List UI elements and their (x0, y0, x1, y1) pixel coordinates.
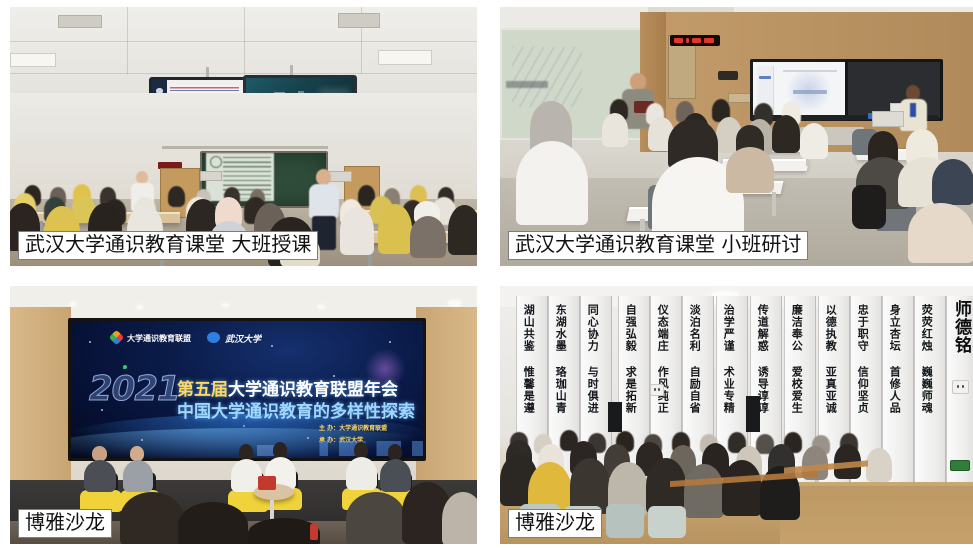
chair (606, 504, 644, 538)
student (340, 207, 374, 255)
wall-socket (650, 384, 664, 396)
audience-member (178, 502, 248, 544)
wall-couplet: 仪态端庄 作风纯正 (657, 304, 668, 428)
wall-title: 师德铭 (952, 300, 969, 370)
led-banner: 大学通识教育联盟 武汉大学 2021 第五届大学通识教育联盟年会 中国大学通识教… (68, 318, 426, 461)
wall-couplet: 东湖水墨 珞珈山青 (555, 304, 566, 428)
banner-host-value: 大学通识教育联盟 (339, 425, 387, 432)
ceiling-light (222, 303, 229, 307)
ceiling-tile (127, 41, 245, 74)
panelist-body (380, 459, 411, 492)
floor-reflection (780, 486, 973, 544)
panelist-body (346, 457, 377, 490)
ceiling-light (318, 305, 325, 309)
audience-member (346, 492, 406, 544)
table-leg (772, 192, 776, 216)
panelist-head (92, 446, 107, 461)
photo-caption: 武汉大学通识教育课堂 大班授课 (18, 231, 318, 260)
wall-plate (728, 93, 752, 103)
ceiling-vent (338, 13, 380, 28)
panelist-head (354, 442, 368, 458)
panelist-head (130, 446, 144, 461)
panelist-body (84, 460, 116, 492)
photo-collage: 武汉大学通识教育课堂 大班授课 (0, 0, 973, 548)
presenter-head (906, 85, 920, 100)
ceiling (10, 286, 477, 322)
student (378, 204, 412, 254)
ceiling-light (378, 50, 432, 65)
banner-host-label: 主 办： (319, 425, 339, 432)
photo-caption: 博雅沙龙 (18, 509, 112, 538)
ceiling-tile (127, 7, 245, 42)
ceiling-light (70, 302, 77, 306)
instructor-torso (309, 184, 339, 218)
ceiling-light (10, 53, 56, 67)
whu-logo-text: 武汉大学 (225, 332, 261, 345)
panelist-head (239, 444, 253, 460)
ceiling-vent (58, 15, 102, 28)
alliance-logo-icon (109, 330, 125, 346)
banner-subhead: 中国大学通识教育的多样性探索 (177, 397, 415, 422)
alliance-logo-text: 大学通识教育联盟 (127, 333, 191, 344)
doorway (608, 402, 622, 432)
wall-couplet: 廉洁奉公 爱校爱生 (791, 304, 802, 428)
audience-member (866, 448, 892, 482)
wall-couplet: 淡泊名利 自励自省 (689, 304, 700, 428)
banner-year: 2021 (89, 369, 180, 409)
student (772, 115, 800, 153)
wall-panel (200, 171, 222, 181)
student (932, 159, 973, 205)
board-text (506, 81, 548, 88)
wall-couplet: 自强弘毅 求是拓新 (625, 304, 636, 428)
table-book (258, 476, 276, 490)
student (602, 113, 628, 147)
exit-sign (950, 460, 970, 471)
backpack (852, 185, 886, 229)
student-front (516, 141, 588, 225)
photo-caption: 武汉大学通识教育课堂 小班研讨 (508, 231, 808, 260)
status-indicator (123, 365, 127, 369)
banner-host: 主 办：大学通识教育联盟 (319, 423, 387, 432)
wall-couplet: 以德执教 亚真亚诚 (825, 304, 836, 428)
student (410, 216, 446, 258)
panelist-head (273, 442, 287, 458)
podium (872, 111, 904, 127)
skyline-graphic (315, 441, 425, 456)
photo-top-right[interactable]: 武汉大学通识教育课堂 小班研讨 (500, 7, 973, 266)
photo-bottom-left[interactable]: 大学通识教育联盟 武汉大学 2021 第五届大学通识教育联盟年会 中国大学通识教… (10, 286, 477, 544)
wall-couplet: 荧荧红烛 巍巍师魂 (921, 304, 932, 428)
student (800, 123, 828, 159)
led-clock (670, 35, 720, 46)
photo-caption: 博雅沙龙 (508, 509, 602, 538)
instructor-head (630, 73, 646, 90)
student (448, 205, 477, 255)
wall-couplet: 治学严谨 术业专精 (723, 304, 734, 428)
photo-top-left[interactable]: 武汉大学通识教育课堂 大班授课 (10, 7, 477, 266)
wall-couplet: 湖山共鉴 惟馨是遵 (523, 304, 534, 428)
photo-bottom-right[interactable]: 师德铭 荧荧红烛 巍巍师魂 身立杏坛 首修人品 忠于职守 信仰坚贞 以德执教 亚… (500, 286, 973, 544)
wall-couplet: 忠于职守 信仰坚贞 (857, 304, 868, 428)
water-bottle (310, 524, 318, 540)
wall-couplet: 同心协力 与时俱进 (587, 304, 598, 428)
audience-member (722, 460, 762, 516)
wall-socket (952, 380, 969, 394)
wall-couplet: 身立杏坛 首修人品 (889, 304, 900, 428)
ceiling-light (136, 305, 143, 309)
doorway (746, 396, 760, 432)
audience-member (120, 492, 184, 544)
presenter-tie (910, 103, 916, 117)
wall-panel (718, 71, 738, 80)
whu-logo-icon (207, 332, 220, 343)
audience-member (442, 492, 477, 544)
student (908, 203, 973, 263)
panelist-head (388, 444, 402, 460)
student (168, 186, 185, 207)
screen-rail (162, 146, 328, 149)
mindmap-sketch (512, 47, 582, 107)
chair (648, 506, 686, 538)
ceiling-tile (244, 41, 362, 74)
audience-member (684, 464, 724, 518)
instructor-head (316, 169, 331, 185)
wall-panel (328, 171, 352, 182)
student (726, 147, 774, 193)
panelist-body (123, 460, 153, 492)
